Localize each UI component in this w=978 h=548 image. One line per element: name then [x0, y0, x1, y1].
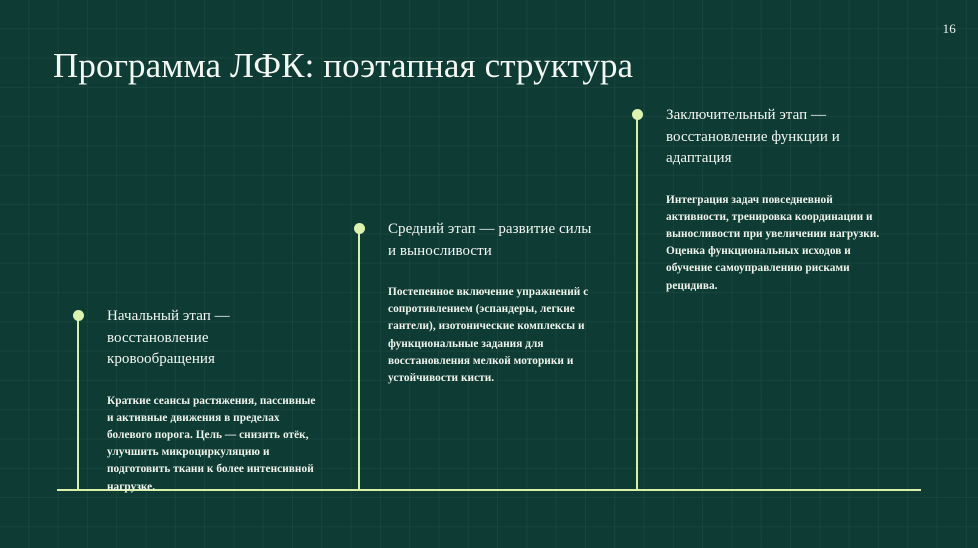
stage-description: Постепенное включение упражнений с сопро…	[388, 284, 603, 387]
stage-description: Краткие сеансы растяжения, пассивные и а…	[107, 393, 319, 496]
stage-heading: Начальный этап — восстановление кровообр…	[107, 306, 319, 371]
timeline-stage-content: Начальный этап — восстановление кровообр…	[107, 306, 319, 496]
timeline-dot-icon	[354, 223, 365, 234]
stage-heading: Средний этап — развитие силы и выносливо…	[388, 219, 603, 262]
page-number: 16	[943, 22, 956, 35]
stage-heading: Заключительный этап — восстановление фун…	[666, 105, 894, 170]
slide-canvas: 16 Программа ЛФК: поэтапная структура На…	[0, 0, 978, 548]
timeline-stage-content: Средний этап — развитие силы и выносливо…	[388, 219, 603, 387]
page-title: Программа ЛФК: поэтапная структура	[53, 42, 673, 90]
timeline-stem	[636, 114, 638, 490]
stage-description: Интеграция задач повседневной активности…	[666, 192, 894, 295]
timeline-dot-icon	[632, 109, 643, 120]
timeline-stem	[358, 228, 360, 490]
timeline-dot-icon	[73, 310, 84, 321]
timeline-stage-content: Заключительный этап — восстановление фун…	[666, 105, 894, 295]
timeline-stem	[77, 315, 79, 490]
